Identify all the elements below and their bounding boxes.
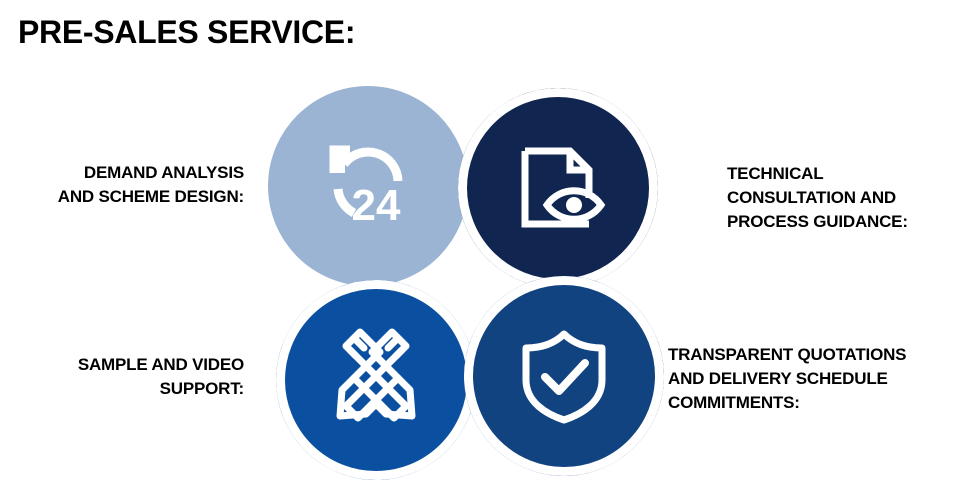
24-hour-rotation-icon: 24 [316, 134, 420, 238]
label-line: SAMPLE AND VIDEO [0, 353, 244, 377]
label-line: SUPPORT: [0, 377, 244, 401]
icon-container-transparent-quotations [464, 276, 664, 476]
shield-check-icon [512, 324, 616, 428]
label-line: TRANSPARENT QUOTATIONS [668, 343, 960, 367]
label-sample-video-support: SAMPLE AND VIDEO SUPPORT: [0, 353, 244, 401]
label-line: COMMITMENTS: [668, 391, 960, 415]
document-eye-icon [506, 136, 610, 240]
circle-cluster-diagram: 24 [268, 86, 664, 482]
svg-text:24: 24 [352, 181, 401, 230]
icon-container-technical-consultation [458, 88, 658, 288]
label-line: AND SCHEME DESIGN: [0, 185, 244, 209]
label-line: CONSULTATION AND [727, 186, 959, 210]
label-transparent-quotations: TRANSPARENT QUOTATIONS AND DELIVERY SCHE… [668, 343, 960, 415]
icon-container-sample-video-support [276, 280, 476, 480]
label-line: AND DELIVERY SCHEDULE [668, 367, 960, 391]
label-technical-consultation: TECHNICAL CONSULTATION AND PROCESS GUIDA… [727, 162, 959, 234]
page-title: PRE-SALES SERVICE: [18, 14, 355, 51]
icon-container-demand-analysis: 24 [268, 86, 468, 286]
label-line: TECHNICAL [727, 162, 959, 186]
label-line: PROCESS GUIDANCE: [727, 210, 959, 234]
label-line: DEMAND ANALYSIS [0, 161, 244, 185]
label-demand-analysis: DEMAND ANALYSIS AND SCHEME DESIGN: [0, 161, 244, 209]
crossed-pens-icon [322, 326, 430, 434]
